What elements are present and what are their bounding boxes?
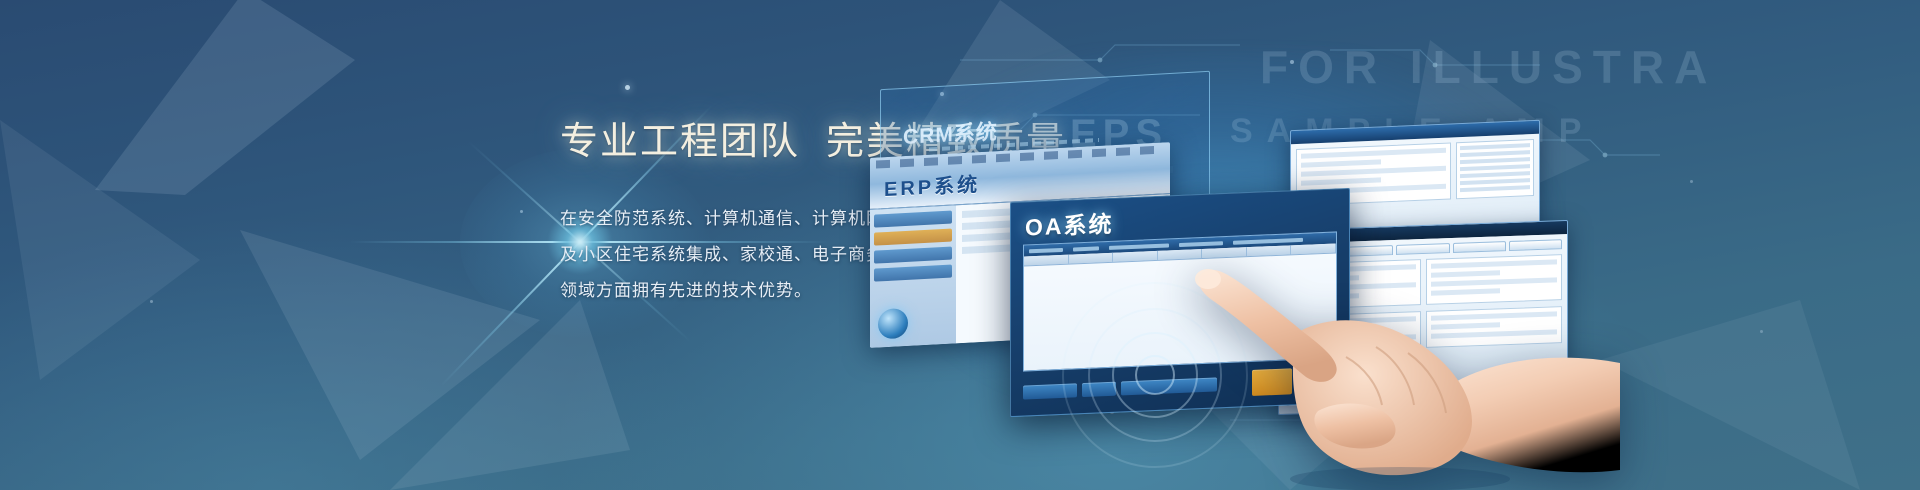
screen-oa-label: OA系统 xyxy=(1025,205,1114,243)
shard xyxy=(0,120,200,380)
tree-row xyxy=(1460,178,1530,185)
sparkle-dot xyxy=(625,85,630,90)
screen-erp-label: ERP系统 xyxy=(884,168,980,202)
headline-part-1: 专业工程团队 xyxy=(560,121,800,163)
toolbar-item xyxy=(1073,246,1099,251)
hand-shadow xyxy=(1290,467,1510,490)
screens-montage: FOR ILLUSTRA SAMPLE AMP CRM系统 EPS ERP系统 xyxy=(900,20,1920,490)
palm xyxy=(1293,320,1472,475)
panel-tree xyxy=(1456,139,1534,199)
forearm xyxy=(1450,358,1620,473)
column-header xyxy=(1069,253,1114,264)
content-row xyxy=(1301,159,1381,167)
nav-item xyxy=(874,211,952,228)
content-row xyxy=(1301,166,1446,177)
content-row xyxy=(1301,148,1446,159)
fingertip xyxy=(1195,269,1221,289)
toolbar-item xyxy=(1029,247,1063,252)
shard xyxy=(95,0,355,200)
pointing-hand xyxy=(1150,235,1620,490)
action-button[interactable] xyxy=(1082,382,1116,397)
nav-item xyxy=(874,229,952,246)
tree-row xyxy=(1460,150,1530,157)
tree-row xyxy=(1460,185,1530,192)
tree-row xyxy=(1460,164,1530,171)
nav-item xyxy=(874,247,952,264)
content-row xyxy=(1301,177,1381,185)
tree-row xyxy=(1460,171,1530,178)
tree-row xyxy=(1460,157,1530,164)
action-button[interactable] xyxy=(1023,383,1077,399)
sparkle-dot xyxy=(150,300,153,303)
shard xyxy=(390,300,630,490)
tree-row xyxy=(1460,143,1530,150)
shard xyxy=(240,230,540,460)
sparkle-dot xyxy=(520,210,523,213)
nav-item xyxy=(874,265,952,282)
column-header xyxy=(1024,255,1069,266)
flare-ray xyxy=(350,241,580,243)
banner-root: 专业工程团队完美精致质量 在安全防范系统、计算机通信、计算机网络、智能大厦 及小… xyxy=(0,0,1920,490)
